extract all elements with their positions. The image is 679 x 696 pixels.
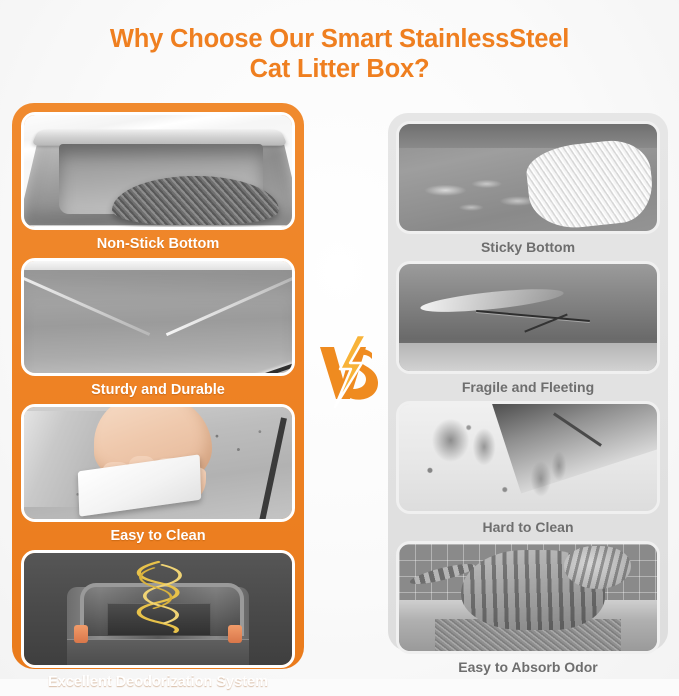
deodorizer-device-illustration (24, 553, 292, 665)
advantage-caption-4: Excellent Deodorization System (21, 668, 295, 696)
plastic-lower-band (399, 343, 657, 371)
dirty-surface-illustration (399, 404, 657, 511)
advantage-caption-1: Non-Stick Bottom (21, 230, 295, 258)
advantage-caption-3: Easy to Clean (21, 522, 295, 550)
odor-swirl-icon (126, 560, 190, 634)
disadvantage-item-3: Hard to Clean (396, 401, 660, 541)
crack-line-1 (477, 310, 590, 322)
vs-badge (310, 333, 386, 409)
page-title: Why Choose Our Smart StainlessSteel Cat … (0, 24, 679, 84)
device-tab-left (74, 625, 89, 643)
disadvantage-item-1: Sticky Bottom (396, 121, 660, 261)
page-title-line-2: Cat Litter Box? (0, 54, 679, 84)
advantages-column: Non-Stick Bottom Sturdy and Durable (12, 103, 304, 669)
advantage-image-non-stick-bottom (21, 112, 295, 230)
disadvantage-caption-1: Sticky Bottom (396, 234, 660, 261)
disadvantage-item-4: Easy to Absorb Odor (396, 541, 660, 681)
pan-with-litter-illustration (24, 115, 292, 227)
advantage-item-4: Excellent Deodorization System (21, 550, 295, 696)
disadvantage-caption-4: Easy to Absorb Odor (396, 654, 660, 681)
page-title-line-1: Why Choose Our Smart StainlessSteel (0, 24, 679, 54)
device-tab-right (228, 625, 243, 643)
hand-wiping-illustration (24, 407, 292, 519)
advantage-image-sturdy-and-durable (21, 258, 295, 376)
pan-bowl-shape (21, 270, 295, 376)
empty-pan-illustration (24, 261, 292, 373)
dirt-stains (399, 404, 657, 511)
infographic-page: Why Choose Our Smart StainlessSteel Cat … (0, 0, 679, 679)
sticky-litter-illustration (399, 124, 657, 231)
cracked-plastic-illustration (399, 264, 657, 371)
disadvantage-caption-3: Hard to Clean (396, 514, 660, 541)
advantage-item-3: Easy to Clean (21, 404, 295, 550)
disadvantage-item-2: Fragile and Fleeting (396, 261, 660, 401)
advantage-image-deodorization-system (21, 550, 295, 668)
disadvantage-image-hard-to-clean (396, 401, 660, 514)
device-base (67, 639, 249, 665)
advantage-image-easy-to-clean (21, 404, 295, 522)
disadvantages-column: Sticky Bottom Fragile and Fleeting (388, 113, 668, 651)
disadvantage-caption-2: Fragile and Fleeting (396, 374, 660, 401)
advantage-item-1: Non-Stick Bottom (21, 112, 295, 258)
advantage-item-2: Sturdy and Durable (21, 258, 295, 404)
disadvantage-image-sticky-bottom (396, 121, 660, 234)
disadvantage-image-fragile-and-fleeting (396, 261, 660, 374)
cat-in-litter-box-illustration (399, 544, 657, 651)
disadvantage-image-easy-to-absorb-odor (396, 541, 660, 654)
advantage-caption-2: Sturdy and Durable (21, 376, 295, 404)
